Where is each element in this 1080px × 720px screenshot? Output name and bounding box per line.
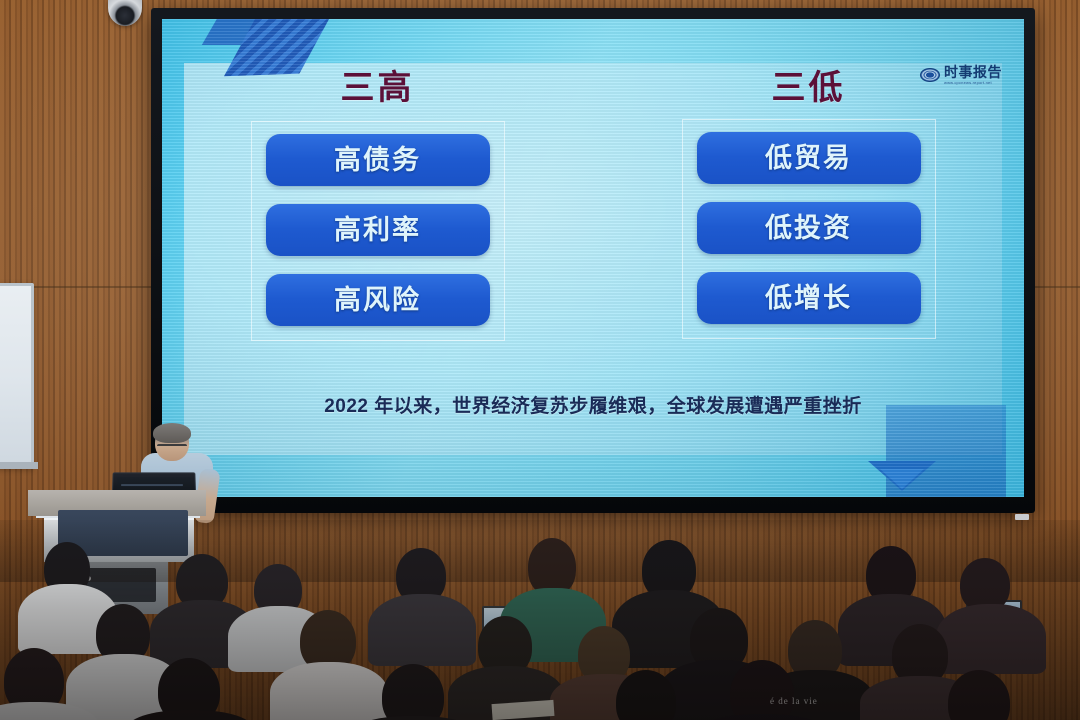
slide-columns: 三高 高债务 高利率 高风险 三低 低贸易 [162, 71, 1024, 341]
pill-item: 低增长 [697, 272, 921, 324]
pill-label: 低贸易 [765, 145, 852, 172]
audience-shoulders [368, 594, 476, 666]
presentation-slide: 时事报告 www.cpcnews.report.net 三高 高债务 高利率 高… [162, 19, 1024, 497]
presenter-glasses [157, 444, 187, 451]
column-title-left: 三高 [341, 71, 415, 105]
audience-shoulders [270, 662, 388, 720]
pill-label: 高风险 [334, 287, 421, 314]
pill-group-right: 低贸易 低投资 低增长 [682, 119, 936, 339]
column-san-di: 三低 低贸易 低投资 低增长 [593, 71, 1024, 341]
audience-shoulders [936, 604, 1046, 674]
logo-text: 时事报告 [944, 65, 1002, 79]
pill-item: 高风险 [266, 274, 490, 326]
laptop-screen-strip [121, 484, 183, 486]
whiteboard-tray [0, 462, 38, 469]
eye-swoosh-icon [920, 68, 940, 82]
audience: é de la vie [0, 520, 1080, 720]
column-title-right: 三低 [772, 71, 846, 105]
lecture-hall-photo: 时事报告 www.cpcnews.report.net 三高 高债务 高利率 高… [0, 0, 1080, 720]
brand-logo: 时事报告 www.cpcnews.report.net [920, 65, 1002, 85]
pill-item: 低投资 [697, 202, 921, 254]
logo-url: www.cpcnews.report.net [944, 81, 992, 85]
audience-head [948, 670, 1010, 720]
audience-shirt-text: é de la vie [770, 696, 818, 706]
decor-bottom-right-arrow-inner [880, 469, 924, 489]
audience-head [382, 664, 444, 720]
pill-label: 低投资 [765, 215, 852, 242]
pill-item: 高利率 [266, 204, 490, 256]
pill-label: 低增长 [765, 285, 852, 312]
whiteboard [0, 283, 34, 468]
pill-label: 高利率 [334, 217, 421, 244]
presenter-hair [153, 423, 191, 443]
column-san-gao: 三高 高债务 高利率 高风险 [162, 71, 593, 341]
audience-head [730, 660, 794, 720]
pill-group-left: 高债务 高利率 高风险 [251, 121, 505, 341]
pill-item: 高债务 [266, 134, 490, 186]
pill-item: 低贸易 [697, 132, 921, 184]
pill-label: 高债务 [334, 147, 421, 174]
slide-caption: 2022 年以来，世界经济复苏步履维艰，全球发展遭遇严重挫折 [162, 391, 1024, 418]
